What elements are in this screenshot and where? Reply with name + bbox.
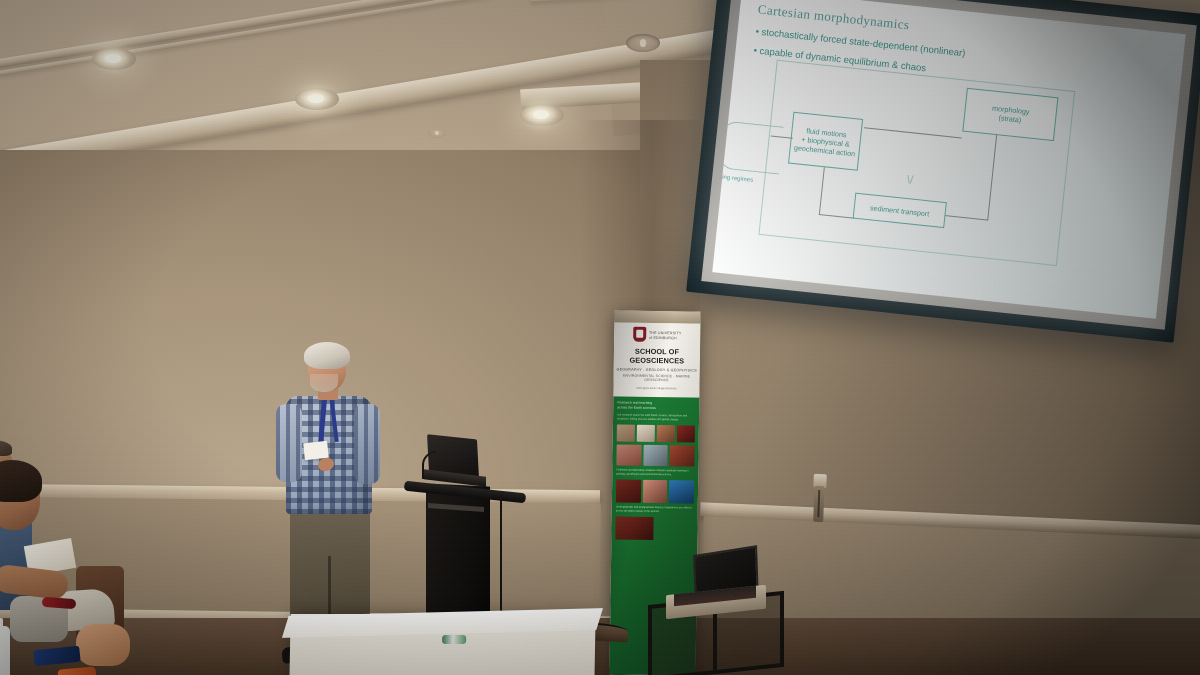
diagram-box-fluid-motions: fluid motions + biophysical & geochemica… — [788, 112, 863, 171]
ceiling-downlight-1 — [92, 48, 136, 70]
banner-thumbnail — [670, 445, 695, 466]
lectern-cable-top — [422, 451, 436, 479]
banner-green-body-1: Our research spans the solid Earth, ocea… — [617, 414, 695, 423]
diagram-box-morphology-label: morphology (strata) — [991, 103, 1030, 125]
banner-subtitle-1: GEOGRAPHY · GEOLOGY & GEOPHYSICS — [614, 367, 700, 372]
audience-person-2-hair — [0, 440, 12, 456]
diagram-box-morphology: morphology (strata) — [962, 88, 1058, 141]
presenter-sleeve-right — [354, 404, 380, 484]
banner-thumbnail-row-1 — [617, 425, 695, 443]
university-crest-icon — [633, 327, 646, 342]
presenter-sleeve-left — [276, 404, 302, 482]
banner-thumbnail — [616, 480, 641, 503]
audience-group — [0, 440, 160, 675]
ceiling-downlight-2 — [295, 88, 339, 110]
conference-room-scene: Cartesian morphodynamics stochastically … — [0, 0, 1200, 675]
ceiling-sprinkler-icon — [626, 34, 660, 52]
audience-water-bottle — [0, 626, 10, 675]
banner-url: www.geos.ed.ac.uk/geosciences — [613, 385, 699, 390]
banner-thumbnail — [616, 445, 641, 466]
slide-diagram: forcing regimes morphology (strata) flui… — [719, 62, 1170, 314]
presenter-beard — [310, 374, 338, 392]
banner-green-heading: Research and teaching across the Earth s… — [617, 400, 695, 411]
table-object — [442, 635, 466, 644]
banner-thumbnail — [643, 445, 668, 466]
diagram-box-fluid-motions-label: fluid motions + biophysical & geochemica… — [794, 125, 858, 158]
projection-screen: Cartesian morphodynamics stochastically … — [686, 0, 1200, 343]
banner-header-panel: THE UNIVERSITYof EDINBURGH SCHOOL OF GEO… — [613, 322, 700, 397]
banner-thumbnail — [617, 425, 635, 442]
audience-phone-device — [33, 646, 80, 667]
lectern-cable-right — [500, 495, 516, 625]
presentation-slide: Cartesian morphodynamics stochastically … — [712, 0, 1185, 319]
screen-surface: Cartesian morphodynamics stochastically … — [712, 0, 1185, 319]
wall-phone-body — [813, 486, 824, 522]
banner-university-name: THE UNIVERSITYof EDINBURGH — [649, 331, 682, 340]
banner-school-title: SCHOOL OF GEOSCIENCES — [614, 346, 700, 365]
banner-thumbnail — [657, 425, 675, 442]
audience-foreground-hands — [76, 624, 130, 666]
banner-thumbnail — [637, 425, 655, 442]
diagram-vertical-mark: \/ — [906, 174, 913, 187]
audience-orange-item — [57, 666, 96, 675]
banner-thumbnail — [615, 517, 653, 541]
audience-person-1-hair — [0, 460, 42, 502]
wall-phone — [811, 474, 827, 522]
banner-green-body-3: Undergraduate and postgraduate degree pr… — [616, 506, 694, 515]
banner-thumbnail — [669, 480, 694, 503]
diagram-box-sediment-transport-label: sediment transport — [870, 203, 930, 218]
ceiling-downlight-3 — [520, 104, 564, 126]
banner-thumbnail — [643, 480, 668, 503]
banner-thumbnail-row-4 — [615, 517, 693, 541]
equipment-cart — [648, 560, 794, 675]
banner-thumbnail-row-2 — [616, 445, 694, 467]
banner-thumbnail-row-3 — [616, 480, 694, 504]
banner-green-body-2: Fieldwork and laboratory analysis underp… — [616, 469, 694, 478]
banner-subtitle-2: ENVIRONMENTAL SCIENCE · MARINE GEOSCIENC… — [614, 373, 700, 382]
diagram-forcing-loop — [717, 120, 784, 174]
presenter-hair — [304, 342, 350, 369]
banner-thumbnail — [677, 426, 695, 443]
ceiling-vent-icon — [428, 128, 446, 138]
draped-table — [289, 614, 595, 675]
